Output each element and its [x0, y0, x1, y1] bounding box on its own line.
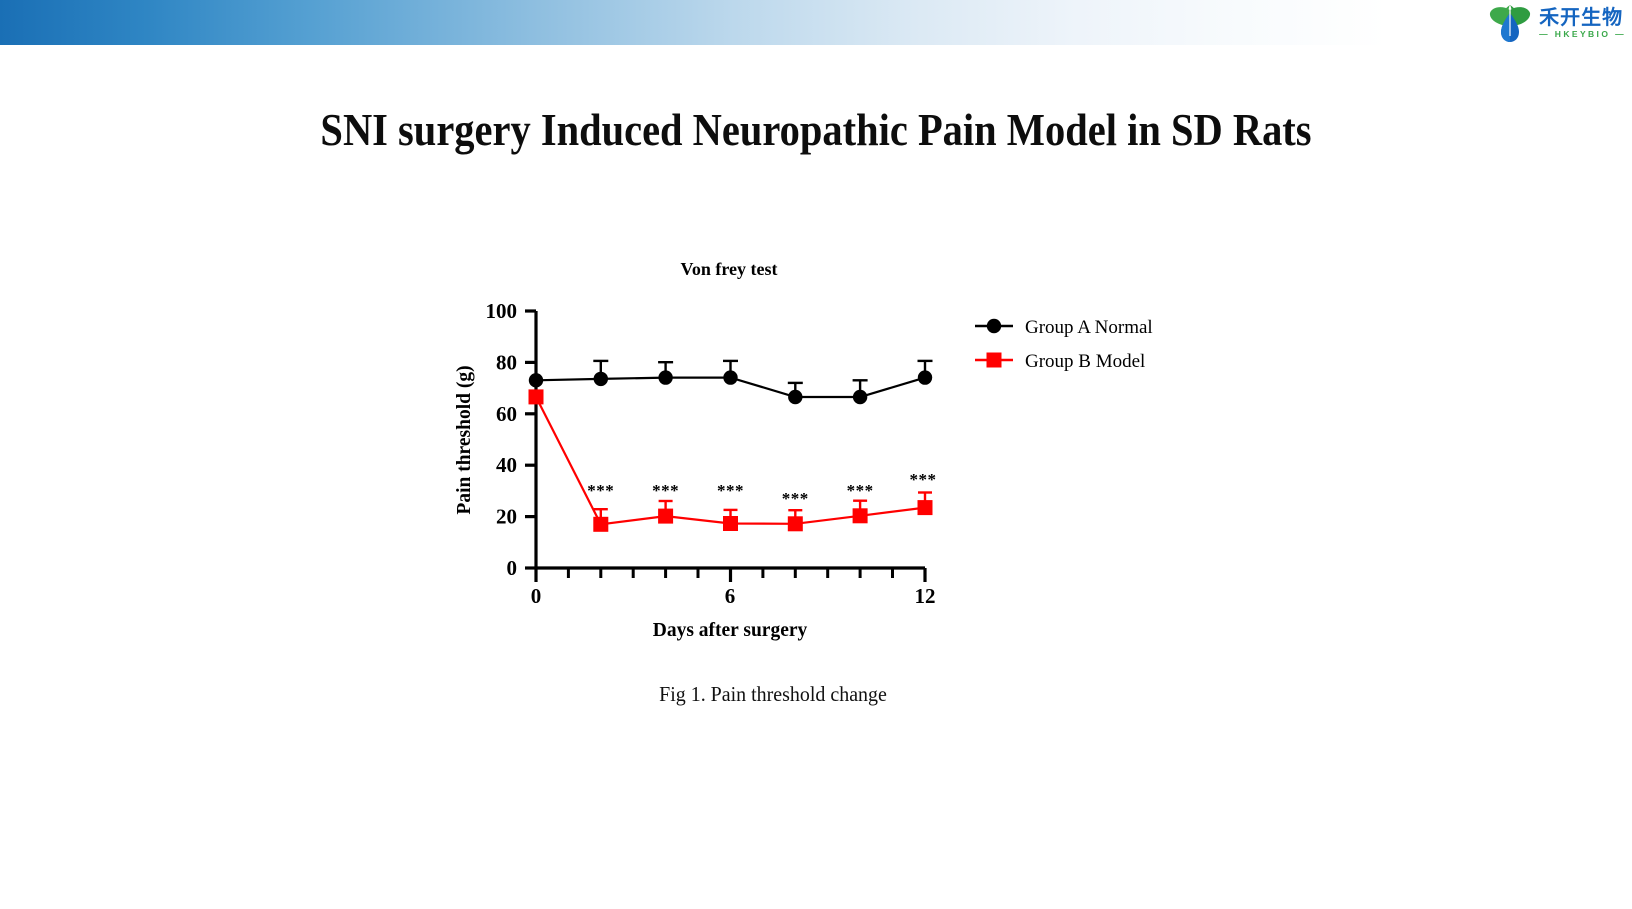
figure-block: Von frey test 100 80 60 40 20 0 Pain thr…: [0, 0, 1632, 909]
annotation-day-10: ***: [847, 481, 874, 500]
xtick-12: 12: [915, 584, 936, 608]
annotation-day-4: ***: [652, 481, 679, 500]
ytick-80: 80: [496, 350, 517, 374]
legend-marker-circle-icon: [987, 319, 1001, 333]
series-group-b-model: [529, 389, 933, 531]
ytick-20: 20: [496, 505, 517, 529]
legend-label-group-b: Group B Model: [1025, 351, 1145, 372]
ytick-40: 40: [496, 453, 517, 477]
xtick-0: 0: [531, 584, 542, 608]
significance-annotations: *** *** *** *** *** ***: [587, 470, 936, 508]
annotation-day-2: ***: [587, 481, 614, 500]
ytick-100: 100: [486, 299, 518, 323]
legend-label-group-a: Group A Normal: [1025, 317, 1153, 338]
ytick-60: 60: [496, 402, 517, 426]
annotation-day-6: ***: [717, 481, 744, 500]
legend-marker-square-icon: [987, 353, 1002, 368]
x-axis: 0 6 12 Days after surgery: [531, 568, 936, 641]
figure-caption: Fig 1. Pain threshold change: [493, 682, 1054, 707]
von-frey-line-chart: Von frey test 100 80 60 40 20 0 Pain thr…: [400, 245, 1220, 665]
chart-title: Von frey test: [681, 259, 778, 279]
chart-legend: Group A Normal Group B Model: [975, 317, 1153, 372]
y-axis-label: Pain threshold (g): [454, 365, 475, 514]
legend-item-group-b[interactable]: Group B Model: [975, 351, 1145, 372]
x-axis-label: Days after surgery: [653, 620, 808, 641]
legend-item-group-a[interactable]: Group A Normal: [975, 317, 1153, 338]
ytick-0: 0: [507, 556, 518, 580]
annotation-day-12: ***: [910, 470, 937, 489]
annotation-day-8: ***: [782, 489, 809, 508]
y-axis: 100 80 60 40 20 0 Pain threshold (g): [454, 299, 536, 580]
xtick-6: 6: [725, 584, 736, 608]
series-group-a-normal: [529, 361, 933, 404]
